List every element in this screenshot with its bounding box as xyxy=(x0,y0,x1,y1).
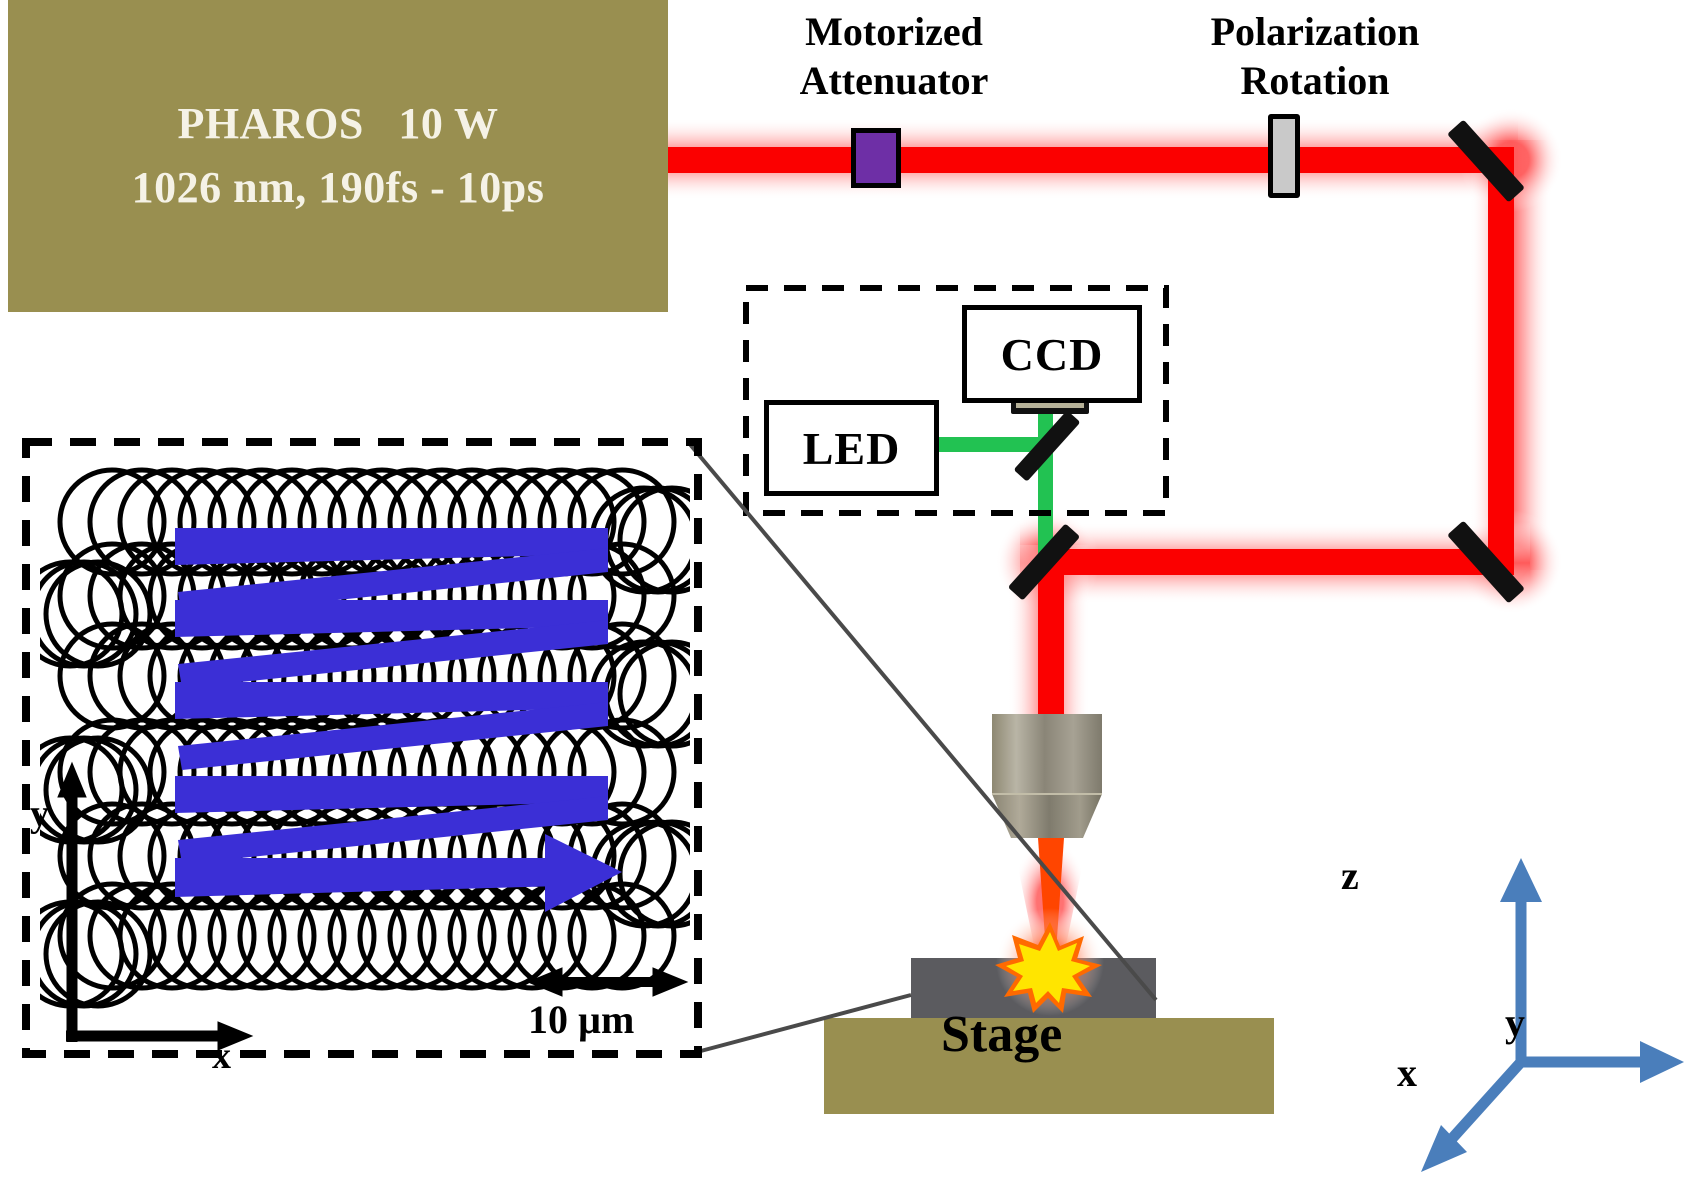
objective-lens xyxy=(992,714,1102,838)
triad-z-label: z xyxy=(1341,852,1359,899)
polarization-rotation-label: Polarization Rotation xyxy=(1160,8,1470,106)
ccd-camera-box: CCD xyxy=(962,305,1142,403)
inset-y-axis-label: y xyxy=(30,792,49,836)
laser-beam-glow xyxy=(660,108,1563,965)
inset-x-axis-label: x xyxy=(212,1034,231,1078)
triad-y-label: y xyxy=(1505,999,1525,1046)
laser-beam-path xyxy=(662,147,1514,952)
laser-specs-line: 1026 nm, 190fs - 10ps xyxy=(132,156,545,220)
laser-model-line: PHAROS 10 W xyxy=(177,92,498,156)
coordinate-axes-triad xyxy=(1421,858,1684,1172)
led-illuminator-box: LED xyxy=(764,400,939,496)
figure-canvas: PHAROS 10 W 1026 nm, 190fs - 10ps Motori… xyxy=(0,0,1698,1194)
scale-bar-label: 10 µm xyxy=(528,996,634,1043)
polarization-rotation-element xyxy=(1268,114,1300,198)
scale-bar xyxy=(528,968,687,996)
laser-source-box: PHAROS 10 W 1026 nm, 190fs - 10ps xyxy=(8,0,668,312)
motorized-attenuator-label: Motorized Attenuator xyxy=(744,8,1044,106)
motorized-attenuator-element xyxy=(851,128,901,188)
triad-x-label: x xyxy=(1397,1049,1417,1096)
stage-label: Stage xyxy=(941,1005,1062,1064)
